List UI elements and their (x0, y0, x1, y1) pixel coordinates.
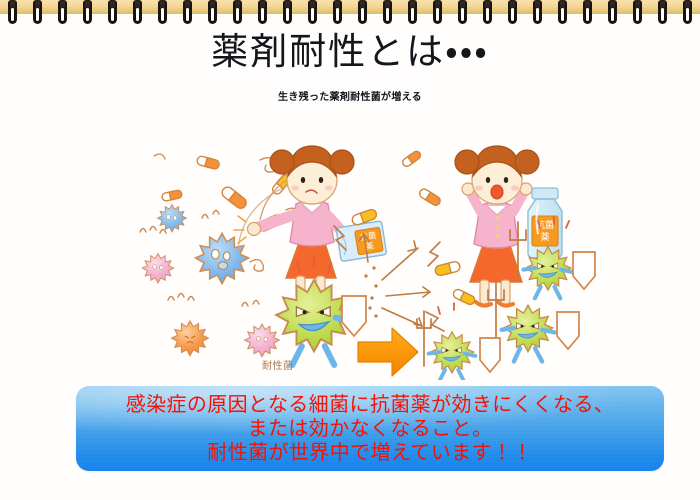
binding-coil-hole (61, 8, 64, 21)
medicine-box: 抗菌 薬 (336, 221, 387, 262)
binding-coil-hole (261, 8, 264, 21)
sweat-marks-pink (140, 227, 166, 234)
binding-coil-hole (686, 8, 689, 21)
binding-coil (58, 0, 67, 24)
binding-coil-hole (511, 8, 514, 21)
binding-coil-hole (361, 8, 364, 21)
bottle-label-line2: 薬 (540, 231, 549, 243)
summary-message-box: 感染症の原因となる細菌に抗菌薬が効きにくくなる、 または効かなくなること。 耐性… (76, 386, 664, 471)
binding-coil (108, 0, 117, 24)
girl-right-shocked (455, 146, 539, 306)
germ-blue-small (157, 204, 186, 232)
germ-resistant-b (502, 305, 555, 361)
binding-coil (633, 0, 642, 24)
sweat-marks-orange (168, 294, 194, 301)
binding-coil-hole (161, 8, 164, 21)
binding-coil-hole (661, 8, 664, 21)
binding-coil (33, 0, 42, 24)
binding-coil (508, 0, 517, 24)
resistant-bacteria-label: 耐性菌 (262, 357, 294, 372)
shield-c (480, 338, 500, 372)
summary-message-text: 感染症の原因となる細菌に抗菌薬が効きにくくなる、 または効かなくなること。 耐性… (76, 392, 664, 464)
binding-coil (658, 0, 667, 24)
binding-coil-hole (36, 8, 39, 21)
binding-coil (258, 0, 267, 24)
binding-coil (233, 0, 242, 24)
binding-coil (308, 0, 317, 24)
binding-coil (358, 0, 367, 24)
binding-coil-hole (211, 8, 214, 21)
sweat-marks-blue (202, 211, 219, 219)
binding-coil-hole (386, 8, 389, 21)
binding-coil-hole (611, 8, 614, 21)
transition-arrow-icon (358, 328, 418, 376)
binding-coil-hole (411, 8, 414, 21)
shield-b (557, 312, 579, 349)
binding-coil (483, 0, 492, 24)
binding-coil-hole (636, 8, 639, 21)
binding-coil (183, 0, 192, 24)
slide-page: 薬剤耐性とは・・・ 生き残った薬剤耐性菌が増える (0, 0, 700, 500)
binding-coil-hole (536, 8, 539, 21)
message-line-3: 耐性菌が世界中で増えています！！ (76, 440, 664, 464)
binding-coil (383, 0, 392, 24)
binding-coil-hole (136, 8, 139, 21)
binding-coil-hole (111, 8, 114, 21)
binding-coil (433, 0, 442, 24)
binding-coil (133, 0, 142, 24)
binding-coil-hole (586, 8, 589, 21)
illustration: 抗菌 薬 (110, 100, 610, 380)
binding-coil-hole (11, 8, 14, 21)
binding-coil (283, 0, 292, 24)
binding-coil-hole (336, 8, 339, 21)
binding-coil (558, 0, 567, 24)
page-title: 薬剤耐性とは・・・ (0, 30, 700, 74)
binding-coil (208, 0, 217, 24)
binding-coil (683, 0, 692, 24)
binding-coil (158, 0, 167, 24)
binding-coil (533, 0, 542, 24)
sweat-marks-pink2 (242, 301, 259, 307)
binding-coil (608, 0, 617, 24)
binding-coils (0, 0, 700, 26)
binding-coil (8, 0, 17, 24)
germ-resistant-c (429, 332, 476, 380)
binding-coil-hole (286, 8, 289, 21)
message-line-2: または効かなくなること。 (76, 416, 664, 440)
shield-center (342, 296, 366, 336)
binding-coil (408, 0, 417, 24)
binding-coil-hole (486, 8, 489, 21)
germ-pink-left (142, 253, 173, 283)
shield-a (573, 252, 595, 289)
binding-coil (583, 0, 592, 24)
binding-coil-hole (561, 8, 564, 21)
message-line-1: 感染症の原因となる細菌に抗菌薬が効きにくくなる、 (76, 392, 664, 416)
binding-coil-hole (86, 8, 89, 21)
binding-coil-hole (186, 8, 189, 21)
binding-coil (83, 0, 92, 24)
binding-coil-hole (236, 8, 239, 21)
binding-coil-hole (311, 8, 314, 21)
binding-coil-hole (461, 8, 464, 21)
binding-coil-hole (436, 8, 439, 21)
germ-pink-mid (245, 324, 280, 357)
germ-orange-left (172, 321, 209, 356)
spiral-binding (0, 0, 700, 26)
antibiotic-bottle: 抗菌 薬 (528, 188, 562, 258)
binding-coil (458, 0, 467, 24)
binding-coil (333, 0, 342, 24)
